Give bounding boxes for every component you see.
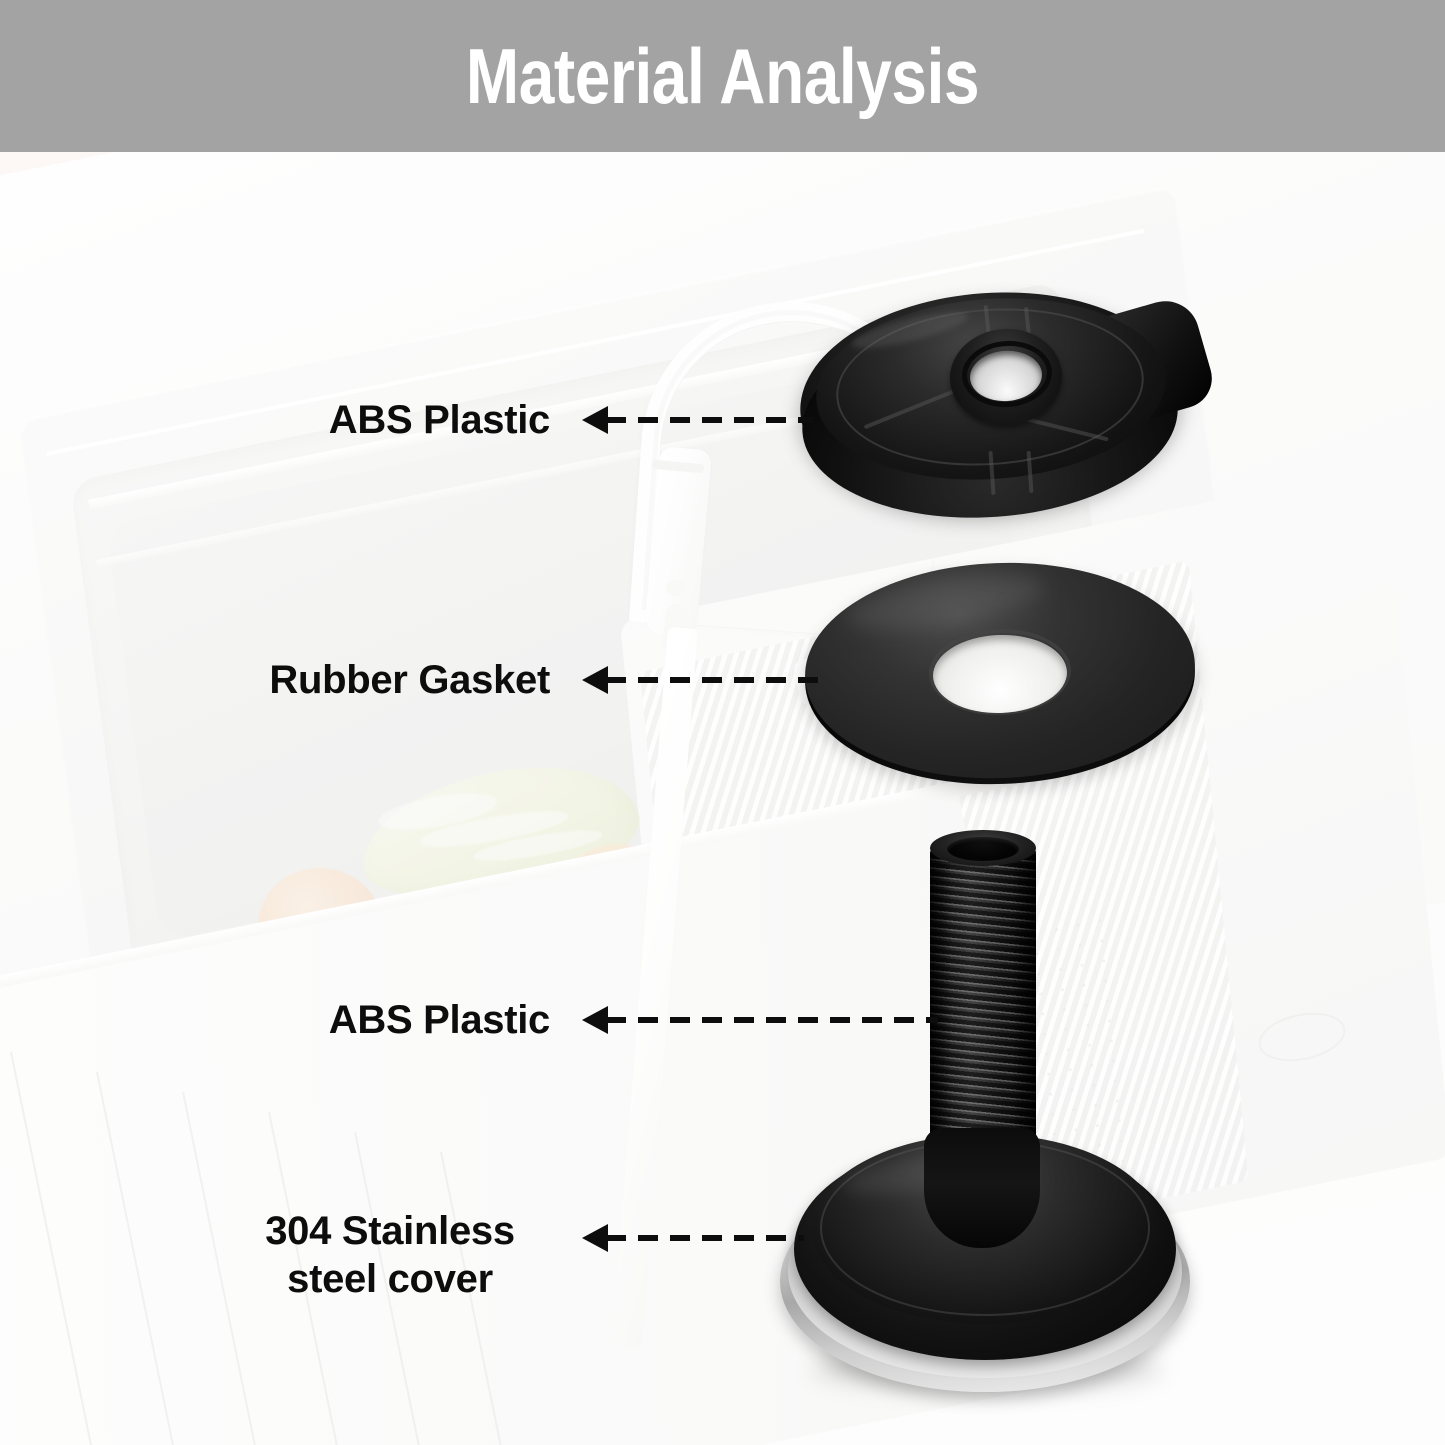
arrow-dashed-line [606, 1017, 938, 1023]
arrow-abs-plastic-stem [582, 1006, 938, 1022]
arrow-head-icon [582, 1006, 608, 1034]
arrow-head-icon [582, 1224, 608, 1252]
infographic-page: ✳ ✳ [0, 0, 1445, 1445]
header-bar: Material Analysis [0, 0, 1445, 152]
arrow-rubber-gasket [582, 666, 820, 682]
label-stainless-steel-cover: 304 Stainless steel cover [230, 1207, 550, 1303]
arrow-head-icon [582, 666, 608, 694]
arrow-head-icon [582, 406, 608, 434]
arrow-stainless-steel-cover [582, 1224, 804, 1240]
arrow-dashed-line [606, 417, 814, 423]
arrow-abs-plastic-top [582, 406, 814, 422]
label-rubber-gasket: Rubber Gasket [190, 656, 550, 704]
page-title: Material Analysis [130, 28, 1315, 124]
arrow-dashed-line [606, 1235, 804, 1241]
arrow-dashed-line [606, 677, 820, 683]
callout-annotations: ABS Plastic Rubber Gasket ABS Plastic 30… [0, 0, 1445, 1445]
label-abs-plastic-top: ABS Plastic [250, 396, 550, 444]
label-abs-plastic-stem: ABS Plastic [250, 996, 550, 1044]
